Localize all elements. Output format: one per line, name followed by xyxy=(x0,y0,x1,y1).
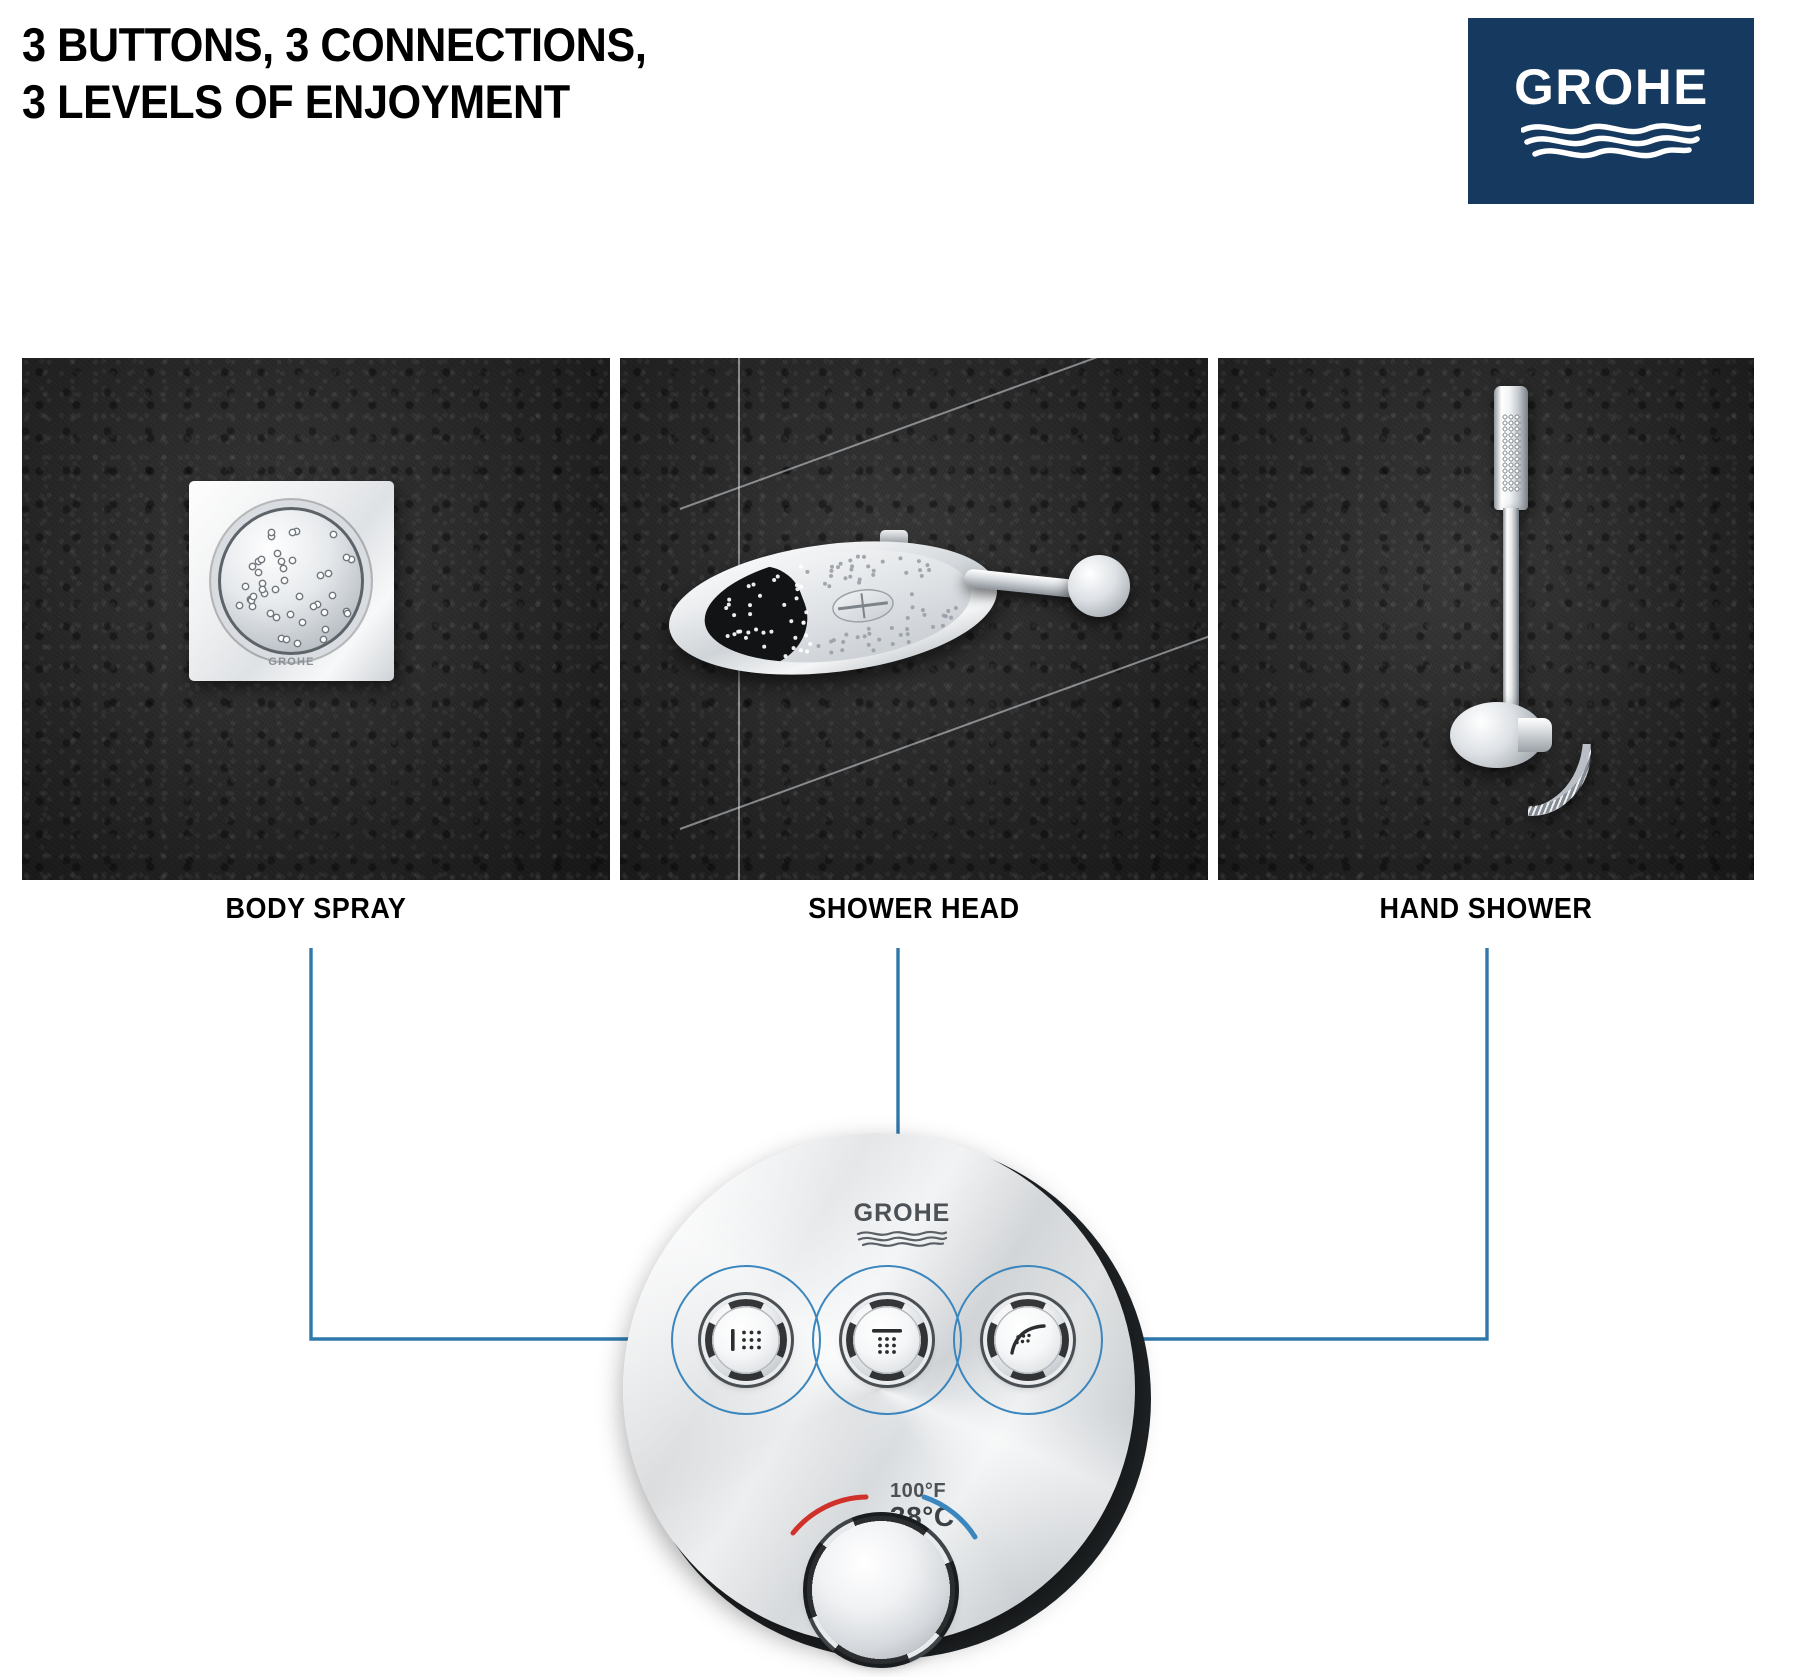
shower-head-nozzle xyxy=(920,574,924,578)
shower-head-nozzle xyxy=(899,556,903,560)
photo-shower-head xyxy=(620,358,1208,880)
body-spray-nozzle xyxy=(275,551,280,556)
body-spray-nozzle xyxy=(295,641,300,646)
shower-head-nozzle xyxy=(793,636,797,640)
shower-head-nozzle xyxy=(909,592,913,596)
hand-shower-head xyxy=(1494,386,1528,510)
hand-shower-handle xyxy=(1503,508,1519,728)
body-spray-brand-mark: GROHE xyxy=(268,656,314,668)
shower-head-nozzle xyxy=(803,633,807,637)
hand-shower-spray-mesh xyxy=(1502,414,1521,492)
shower-head-nozzle xyxy=(927,567,931,571)
shower-head-nozzle xyxy=(918,568,922,572)
shower-head-nozzle xyxy=(746,630,750,634)
shower-head-nozzle xyxy=(816,644,820,648)
body-spray-nozzle xyxy=(323,627,328,632)
shower-head-nozzle xyxy=(921,607,925,611)
body-spray-nozzle xyxy=(281,566,286,571)
shower-head-nozzle xyxy=(798,564,802,568)
body-spray-nozzle xyxy=(297,594,302,599)
body-spray-face xyxy=(211,500,371,662)
body-spray-nozzle xyxy=(345,611,350,616)
body-spray-nozzle xyxy=(290,530,295,535)
shower-head-nozzle xyxy=(856,554,860,558)
body-spray-nozzle xyxy=(282,578,287,583)
shower-head-nozzle xyxy=(890,625,894,629)
shower-head-nozzle xyxy=(841,640,845,644)
body-spray-nozzle xyxy=(326,571,331,576)
body-spray-nozzle xyxy=(243,584,248,589)
shower-arm-wall-flange xyxy=(1068,555,1130,617)
shower-head-nozzle xyxy=(831,638,835,642)
body-spray-nozzle xyxy=(300,620,305,625)
poster-root: 3 BUTTONS, 3 CONNECTIONS, 3 LEVELS OF EN… xyxy=(0,0,1800,1677)
body-spray-nozzle xyxy=(262,591,267,596)
shower-head-nozzle xyxy=(805,650,809,654)
hand-shower-product xyxy=(1456,386,1616,806)
body-spray-nozzle xyxy=(311,604,316,609)
body-spray-nozzle xyxy=(279,559,284,564)
shower-head-nozzle xyxy=(839,562,843,566)
shower-head-nozzle xyxy=(866,642,870,646)
body-spray-nozzle xyxy=(322,610,327,615)
shower-head-nozzle xyxy=(829,569,833,573)
shower-head-nozzle xyxy=(829,650,833,654)
shower-head-nozzle xyxy=(866,564,870,568)
shower-head-nozzle xyxy=(828,574,832,578)
shower-head-nozzle xyxy=(954,605,958,609)
shower-head-nozzle xyxy=(906,632,910,636)
body-spray-nozzles xyxy=(225,514,357,648)
caption-body-spray: BODY SPRAY xyxy=(43,893,590,927)
body-spray-nozzle xyxy=(268,611,273,616)
knob-bezel-segments xyxy=(803,1512,959,1668)
shower-head-nozzle xyxy=(877,638,881,642)
body-spray-nozzle xyxy=(250,604,255,609)
shower-head-nozzle xyxy=(844,632,848,636)
body-spray-nozzle xyxy=(273,587,278,592)
shower-head-nozzle xyxy=(862,634,866,638)
body-spray-nozzle xyxy=(251,594,256,599)
shower-head-nozzle xyxy=(871,648,875,652)
shower-head-nozzle xyxy=(836,565,840,569)
body-spray-nozzle xyxy=(331,532,336,537)
shower-head-nozzle xyxy=(944,614,948,618)
shower-head-nozzle xyxy=(946,609,950,613)
shower-head-nozzle xyxy=(906,616,910,620)
body-spray-nozzle xyxy=(349,557,354,562)
shower-head-nozzle xyxy=(926,563,930,567)
body-spray-nozzle xyxy=(284,637,289,642)
shower-head-nozzle xyxy=(808,642,812,646)
shower-head-nozzle xyxy=(822,582,826,586)
shower-head-nozzle xyxy=(856,635,860,639)
body-spray-nozzle xyxy=(321,637,326,642)
shower-head-nozzle xyxy=(890,642,894,646)
shower-head-nozzle xyxy=(949,615,953,619)
shower-head-nozzle xyxy=(904,570,908,574)
body-spray-nozzle xyxy=(269,534,274,539)
body-spray-nozzle xyxy=(288,612,293,617)
shower-head-nozzle xyxy=(848,575,852,579)
shower-head-nozzle xyxy=(941,623,945,627)
shower-head-center-hub xyxy=(830,586,896,626)
shower-head-nozzle xyxy=(867,631,871,635)
shower-head-nozzle xyxy=(843,576,847,580)
shower-head-nozzle xyxy=(830,564,834,568)
body-spray-nozzle xyxy=(237,603,242,608)
shower-head-nozzle xyxy=(804,610,808,614)
shower-head-nozzle xyxy=(848,559,852,563)
body-spray-product: GROHE xyxy=(189,481,394,681)
shower-head-nozzle xyxy=(850,564,854,568)
body-spray-nozzle xyxy=(274,615,279,620)
body-spray-nozzle xyxy=(256,570,261,575)
temperature-knob[interactable] xyxy=(812,1521,950,1659)
shower-head-nozzle xyxy=(862,555,866,559)
shower-head-nozzle xyxy=(867,626,871,630)
shower-head-nozzle xyxy=(799,648,803,652)
body-spray-nozzle xyxy=(318,573,323,578)
shower-head-spray-face xyxy=(698,536,977,676)
body-spray-nozzle xyxy=(344,555,349,560)
shower-head-nozzle xyxy=(917,559,921,563)
shower-head-shadow-zone xyxy=(698,553,821,677)
photo-hand-shower xyxy=(1218,358,1754,880)
shower-head-nozzle xyxy=(871,572,875,576)
shower-head-nozzle xyxy=(840,648,844,652)
shower-hose xyxy=(1528,744,1602,816)
body-spray-nozzle xyxy=(330,593,335,598)
shower-head-nozzle xyxy=(922,612,926,616)
photo-body-spray: GROHE xyxy=(22,358,610,880)
shower-head-nozzle xyxy=(898,632,902,636)
shower-head-nozzle xyxy=(858,578,862,582)
shower-head-nozzle xyxy=(872,569,876,573)
shower-head-nozzle xyxy=(905,627,909,631)
caption-hand-shower: HAND SHOWER xyxy=(1237,893,1735,927)
shower-head-nozzle xyxy=(784,654,788,658)
shower-head-nozzle xyxy=(805,570,809,574)
shower-head-nozzle xyxy=(769,629,773,633)
body-spray-nozzle xyxy=(290,558,295,563)
body-spray-nozzle xyxy=(250,564,255,569)
shower-head-nozzle xyxy=(761,630,765,634)
body-spray-nozzle xyxy=(259,557,264,562)
shower-head-disc xyxy=(661,524,1004,691)
rain-shower-head-product xyxy=(668,530,1068,695)
shower-head-nozzle xyxy=(881,559,885,563)
shower-head-nozzle xyxy=(910,605,914,609)
shower-head-nozzle xyxy=(931,625,935,629)
body-spray-nozzle xyxy=(260,581,265,586)
smartcontrol-valve[interactable]: GROHE xyxy=(623,1133,1181,1677)
shower-head-nozzle xyxy=(772,577,776,581)
shower-head-nozzle xyxy=(827,584,831,588)
shower-head-nozzle xyxy=(799,584,803,588)
shower-head-nozzle xyxy=(725,633,729,637)
shower-head-nozzle xyxy=(907,640,911,644)
caption-shower-head: SHOWER HEAD xyxy=(641,893,1188,927)
shower-head-nozzle xyxy=(746,584,750,588)
shower-head-nozzle xyxy=(782,602,786,606)
